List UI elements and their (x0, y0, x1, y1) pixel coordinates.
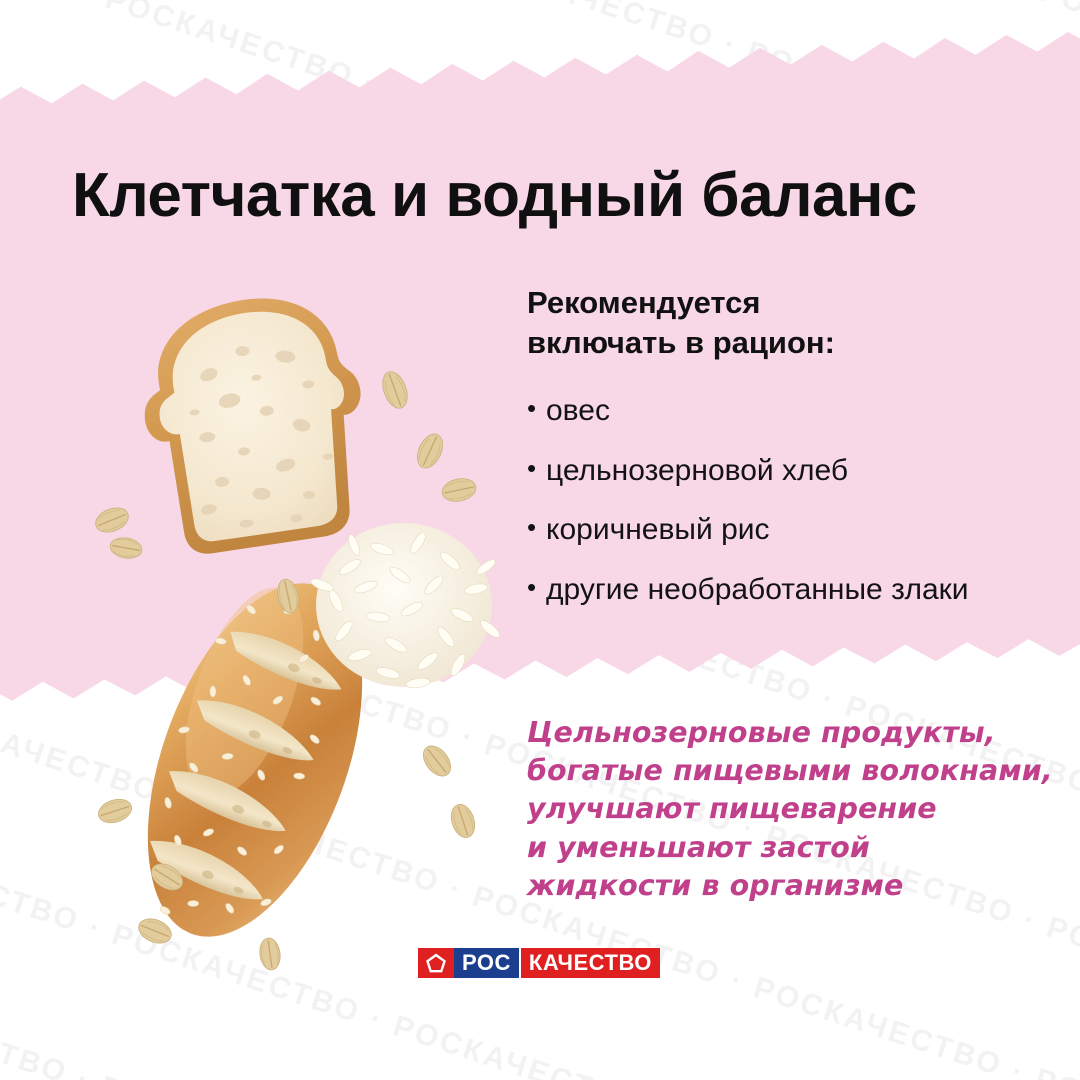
bullet-dot-icon: • (527, 571, 546, 605)
note-line: и уменьшают застой (527, 829, 1027, 867)
list-item-label: цельнозерновой хлеб (546, 452, 997, 490)
oat-grain-icon (378, 368, 412, 412)
oat-grain-icon (440, 470, 478, 510)
bullet-dot-icon: • (527, 392, 546, 426)
pentagon-icon (418, 948, 454, 978)
list-item-label: овес (546, 392, 997, 430)
list-item-label: другие необработанные злаки (546, 571, 997, 609)
logo-word-ros: РОС (454, 948, 519, 978)
oat-grain-icon (136, 910, 174, 952)
note-line: улучшают пищеварение (527, 790, 1027, 828)
note-line: Цельнозерновые продукты, (527, 714, 1027, 752)
fiber-benefit-note: Цельнозерновые продукты, богатые пищевым… (527, 714, 1027, 905)
bullet-dot-icon: • (527, 452, 546, 486)
oat-grain-icon (148, 856, 186, 898)
watermark-line: РОСКАЧЕСТВО · РОСКАЧЕСТВО · РОСКАЧЕСТВО … (0, 1030, 1080, 1080)
oat-grain-icon (270, 575, 306, 617)
list-item: • коричневый рис (527, 511, 997, 549)
oat-grain-icon (412, 430, 448, 472)
note-line: жидкости в организме (527, 867, 1027, 905)
recommendation-heading-line1: Рекомендуется (527, 283, 957, 323)
recommendation-heading: Рекомендуется включать в рацион: (527, 283, 957, 362)
roskachestvo-logo[interactable]: РОС КАЧЕСТВО (418, 948, 660, 978)
oat-grain-icon (418, 740, 456, 782)
recommendation-heading-line2: включать в рацион: (527, 323, 957, 363)
list-item: • другие необработанные злаки (527, 571, 997, 609)
infographic-canvas: РОСКАЧЕСТВО · РОСКАЧЕСТВО · РОСКАЧЕСТВО … (0, 0, 1080, 1080)
list-item: • овес (527, 392, 997, 430)
oat-grain-icon (95, 790, 135, 832)
logo-word-kachestvo: КАЧЕСТВО (521, 948, 660, 978)
page-title: Клетчатка и водный баланс (72, 160, 917, 231)
rice-pile-image (300, 505, 515, 695)
food-list: • овес • цельнозерновой хлеб • коричневы… (527, 392, 997, 630)
list-item-label: коричневый рис (546, 511, 997, 549)
list-item: • цельнозерновой хлеб (527, 452, 997, 490)
oat-grain-icon (444, 800, 482, 842)
oat-grain-icon (252, 934, 288, 974)
bullet-dot-icon: • (527, 511, 546, 545)
note-line: богатые пищевыми волокнами, (527, 752, 1027, 790)
watermark-line: РОСКАЧЕСТВО · РОСКАЧЕСТВО · РОСКАЧЕСТВО … (0, 0, 1080, 29)
oat-grain-icon (108, 528, 144, 568)
